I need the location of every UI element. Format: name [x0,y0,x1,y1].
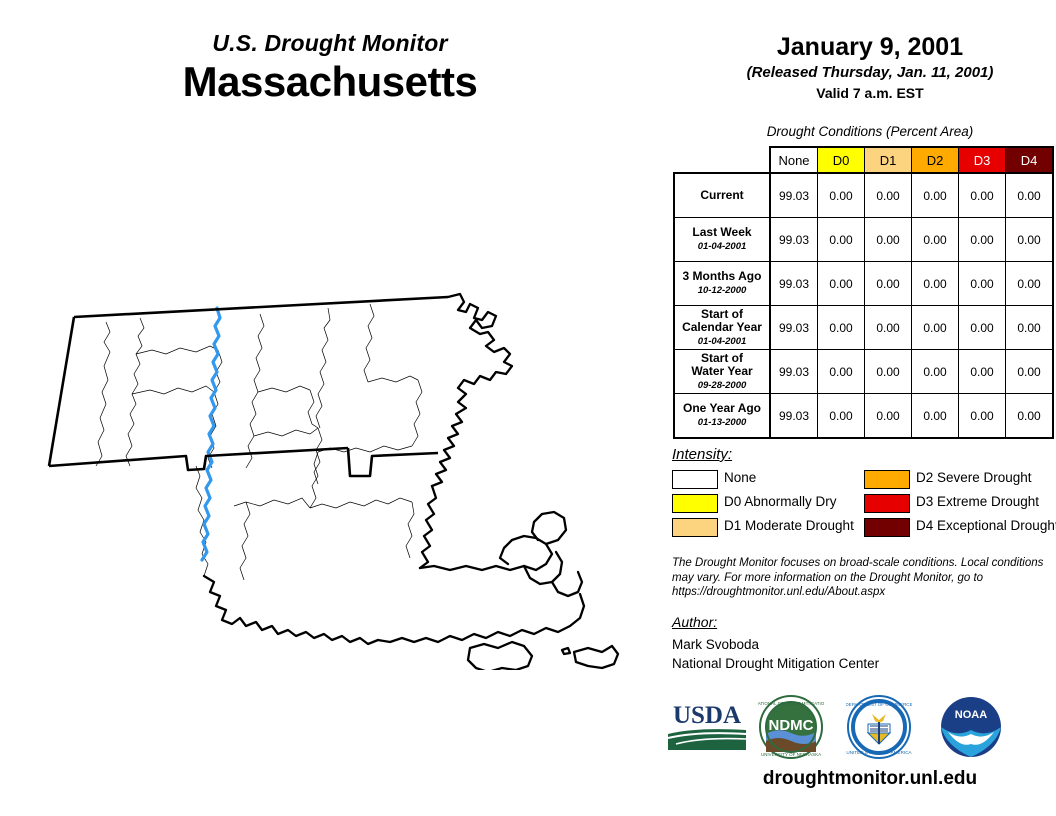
table-cell-d4: 0.00 [1006,262,1054,306]
legend-label: D1 Moderate Drought [724,516,854,536]
table-cell-d4: 0.00 [1006,306,1054,350]
table-cell-none: 99.03 [770,173,818,218]
report-date: January 9, 2001 [700,33,1040,62]
table-cell-d3: 0.00 [959,350,1006,394]
table-cell-d3: 0.00 [959,262,1006,306]
table-row-sublabel: 01-13-2000 [675,416,769,429]
table-cell-none: 99.03 [770,262,818,306]
table-cell-d3: 0.00 [959,218,1006,262]
table-row-label: One Year Ago01-13-2000 [674,394,770,439]
table-cell-d4: 0.00 [1006,350,1054,394]
usda-logo: USDA [666,698,748,756]
legend-swatch [864,470,910,489]
table-col-header-d1: D1 [865,147,912,173]
legend-label: None [724,468,756,488]
author-name: Mark Svoboda [672,637,759,652]
table-col-header-d2: D2 [912,147,959,173]
table-cell-d2: 0.00 [912,350,959,394]
table-cell-none: 99.03 [770,394,818,439]
table-row: Current99.030.000.000.000.000.00 [674,173,1053,218]
table-row-label: Current [674,173,770,218]
valid-time: Valid 7 a.m. EST [700,85,1040,101]
svg-text:DEPARTMENT OF COMMERCE: DEPARTMENT OF COMMERCE [846,702,912,707]
author-heading: Author: [672,614,717,630]
svg-text:NDMC: NDMC [769,717,814,734]
table-cell-d2: 0.00 [912,173,959,218]
state-title: Massachusetts [0,58,660,106]
legend-label: D4 Exceptional Drought [916,516,1056,536]
logo-row: USDA NDMC NATIONAL DROUGHT MITIGATION UN… [660,694,1050,760]
noaa-logo: NOAA [938,694,1004,760]
drought-conditions-table: NoneD0D1D2D3D4 Current99.030.000.000.000… [673,146,1054,439]
table-header-row: NoneD0D1D2D3D4 [674,147,1053,173]
table-cell-d0: 0.00 [818,394,865,439]
table-cell-d1: 0.00 [865,173,912,218]
table-cell-d1: 0.00 [865,262,912,306]
table-row-sublabel: 01-04-2001 [675,240,769,253]
table-body: Current99.030.000.000.000.000.00Last Wee… [674,173,1053,438]
table-row: 3 Months Ago10-12-200099.030.000.000.000… [674,262,1053,306]
svg-text:USDA: USDA [673,702,741,729]
massachusetts-drought-map [18,270,658,670]
legend-label: D3 Extreme Drought [916,492,1039,512]
table-cell-d2: 0.00 [912,218,959,262]
table-col-header-d3: D3 [959,147,1006,173]
ndmc-logo: NDMC NATIONAL DROUGHT MITIGATION UNIVERS… [758,694,824,760]
table-row-label: 3 Months Ago10-12-2000 [674,262,770,306]
release-date: (Released Thursday, Jan. 11, 2001) [700,64,1040,81]
legend-label: D0 Abnormally Dry [724,492,837,512]
legend-swatch [672,494,718,513]
table-cell-d3: 0.00 [959,306,1006,350]
table-row-label: Start ofCalendar Year01-04-2001 [674,306,770,350]
table-cell-d2: 0.00 [912,394,959,439]
table-cell-d1: 0.00 [865,306,912,350]
legend-swatch [672,470,718,489]
table-cell-none: 99.03 [770,350,818,394]
table-cell-none: 99.03 [770,306,818,350]
table-row: One Year Ago01-13-200099.030.000.000.000… [674,394,1053,439]
table-row-sublabel: 09-28-2000 [675,379,769,392]
svg-text:NATIONAL DROUGHT MITIGATION: NATIONAL DROUGHT MITIGATION [758,701,824,706]
intensity-heading: Intensity: [672,446,732,463]
table-row-sublabel: 10-12-2000 [675,284,769,297]
legend-swatch [672,518,718,537]
table-cell-d3: 0.00 [959,394,1006,439]
table-cell-d2: 0.00 [912,306,959,350]
table-cell-d0: 0.00 [818,173,865,218]
table-cell-d0: 0.00 [818,218,865,262]
table-row: Start ofWater Year09-28-200099.030.000.0… [674,350,1053,394]
table-cell-d2: 0.00 [912,262,959,306]
map-nantucket [562,646,618,668]
table-cell-d3: 0.00 [959,173,1006,218]
table-cell-d1: 0.00 [865,218,912,262]
svg-text:UNIVERSITY OF NEBRASKA: UNIVERSITY OF NEBRASKA [761,752,821,757]
site-url: droughtmonitor.unl.edu [700,768,1040,790]
legend-swatch [864,518,910,537]
table-row-label: Last Week01-04-2001 [674,218,770,262]
table-row-sublabel: 01-04-2001 [675,335,769,348]
author-organization: National Drought Mitigation Center [672,656,879,671]
legend-label: D2 Severe Drought [916,468,1032,488]
table-cell-d4: 0.00 [1006,218,1054,262]
svg-text:NOAA: NOAA [955,709,987,721]
table-cell-d0: 0.00 [818,262,865,306]
disclaimer-text: The Drought Monitor focuses on broad-sca… [672,556,1044,600]
table-cell-d0: 0.00 [818,350,865,394]
table-cell-d4: 0.00 [1006,394,1054,439]
table-cell-d1: 0.00 [865,350,912,394]
usdc-seal-logo: DEPARTMENT OF COMMERCE UNITED STATES OF … [846,694,912,760]
table-corner-cell [674,147,770,173]
table-cell-none: 99.03 [770,218,818,262]
program-title: U.S. Drought Monitor [0,30,660,57]
table-cell-d4: 0.00 [1006,173,1054,218]
table-row-label: Start ofWater Year09-28-2000 [674,350,770,394]
table-cell-d1: 0.00 [865,394,912,439]
table-col-header-none: None [770,147,818,173]
table-cell-d0: 0.00 [818,306,865,350]
legend-swatch [864,494,910,513]
table-col-header-d4: D4 [1006,147,1054,173]
table-caption: Drought Conditions (Percent Area) [700,124,1040,139]
intensity-legend: NoneD0 Abnormally DryD1 Moderate Drought… [672,468,1052,540]
table-row: Start ofCalendar Year01-04-200199.030.00… [674,306,1053,350]
table-row: Last Week01-04-200199.030.000.000.000.00… [674,218,1053,262]
svg-text:UNITED STATES OF AMERICA: UNITED STATES OF AMERICA [846,750,912,755]
table-col-header-d0: D0 [818,147,865,173]
map-marthas-vineyard [468,642,532,670]
